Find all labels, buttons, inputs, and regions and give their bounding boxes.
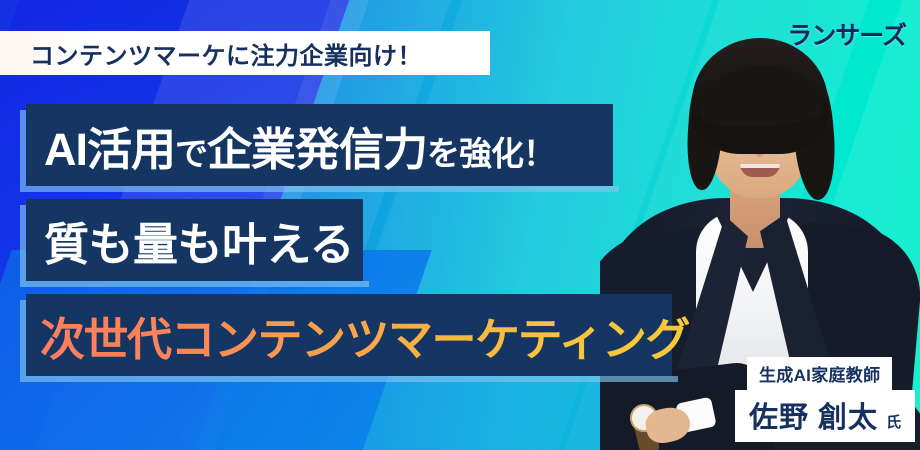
headline-line-1-main-b: 企業発信力	[207, 124, 427, 175]
headline-line-1-text: AI活用で企業発信力を強化！	[44, 113, 555, 178]
headline-line-2-box: 質も量も叶える	[26, 199, 363, 281]
headline-line-2-text: 質も量も叶える	[44, 208, 354, 273]
speaker-title-badge: 生成AI家庭教師	[747, 357, 892, 391]
headline-line-3: 次世代コンテンツマーケティング	[26, 294, 672, 376]
speaker-honorific: 氏	[886, 411, 901, 432]
headline-line-1: AI活用で企業発信力を強化！	[26, 104, 613, 186]
headline-line-3-box: 次世代コンテンツマーケティング	[26, 294, 672, 376]
eyebrow-text: コンテンツマーケに注力企業向け！	[30, 36, 422, 71]
headline-line-1-main-a: AI活用	[44, 124, 175, 175]
headline-line-3-text: 次世代コンテンツマーケティング	[40, 303, 689, 368]
lancers-logo: ランサーズ	[787, 16, 906, 52]
headline-line-1-small-a: で	[175, 135, 207, 172]
headline-line-1-small-b: を強化！	[427, 135, 555, 172]
headline-line-2: 質も量も叶える	[26, 199, 363, 281]
eyebrow-bar: コンテンツマーケに注力企業向け！	[0, 31, 490, 75]
headline-line-1-box: AI活用で企業発信力を強化！	[26, 104, 613, 186]
promo-banner: ランサーズ コンテンツマーケに注力企業向け！ AI活用で企業発信力を強化！ 質も…	[0, 0, 920, 450]
speaker-name-badge: 佐野 創太 氏	[735, 390, 915, 442]
speaker-name-text: 佐野 創太	[749, 394, 878, 436]
